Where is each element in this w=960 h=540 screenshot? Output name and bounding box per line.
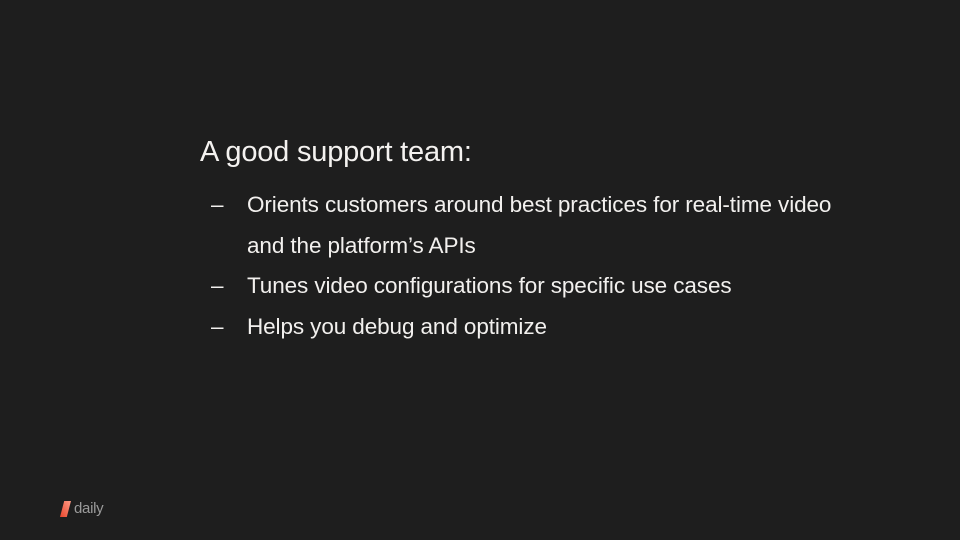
list-item-text: Tunes video configurations for specific … (247, 266, 860, 307)
list-item-text: Orients customers around best practices … (247, 185, 860, 266)
daily-logo: daily (60, 499, 103, 519)
list-item-text: Helps you debug and optimize (247, 307, 860, 348)
daily-wordmark: daily (74, 501, 103, 517)
bullet-list: – Orients customers around best practice… (200, 185, 860, 347)
bullet-dash-icon: – (211, 307, 225, 348)
bullet-dash-icon: – (211, 185, 225, 226)
list-item: – Tunes video configurations for specifi… (200, 266, 860, 307)
list-item: – Orients customers around best practice… (200, 185, 860, 266)
slide-canvas: A good support team: – Orients customers… (0, 0, 960, 540)
page-title: A good support team: (200, 133, 860, 171)
slide-content: A good support team: – Orients customers… (200, 133, 860, 347)
daily-logo-mark-icon (60, 501, 71, 517)
bullet-dash-icon: – (211, 266, 225, 307)
list-item: – Helps you debug and optimize (200, 307, 860, 348)
